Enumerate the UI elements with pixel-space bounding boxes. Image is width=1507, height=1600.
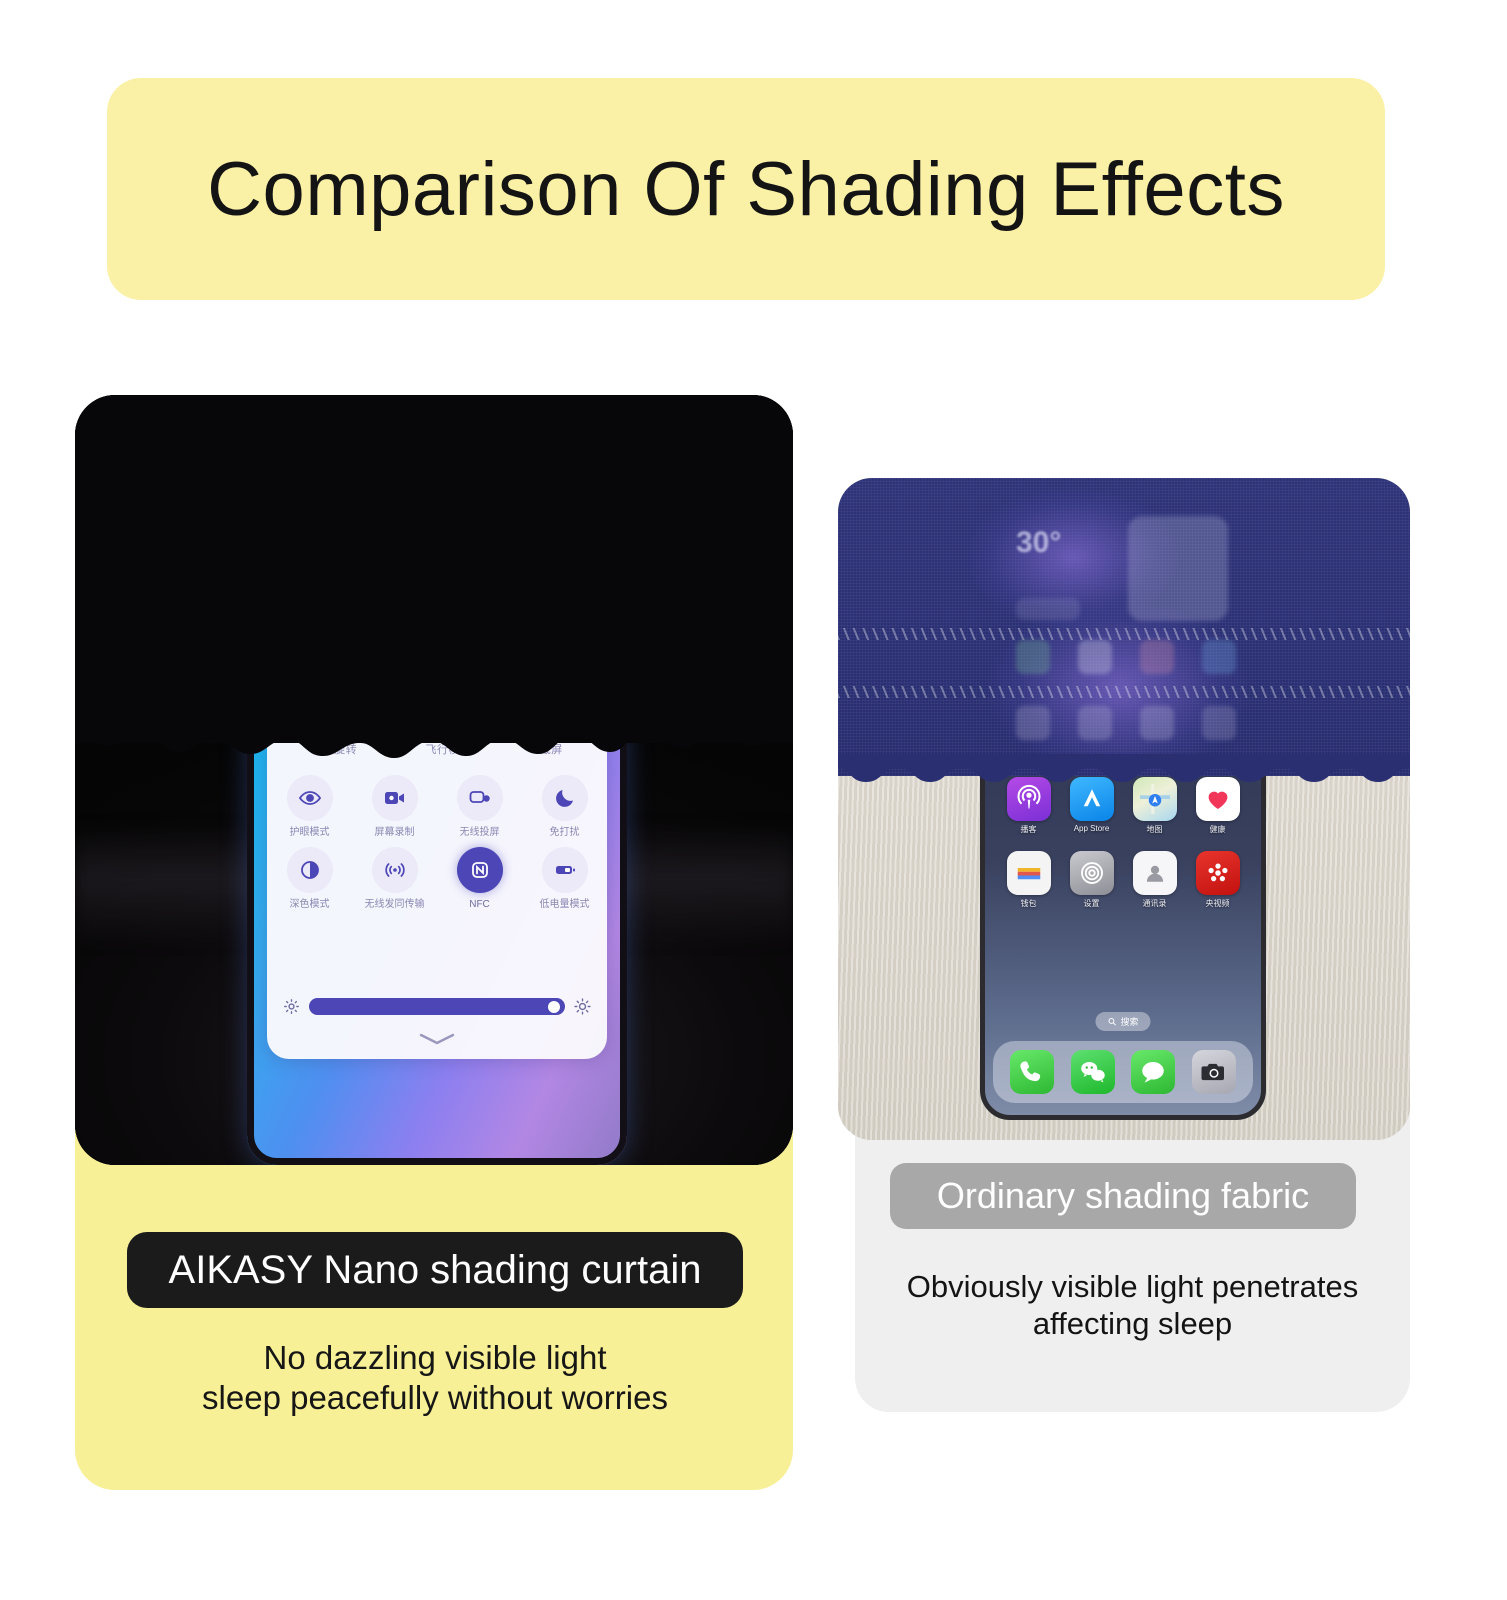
moon-icon bbox=[542, 775, 588, 821]
toggle-dark-mode[interactable]: 深色模式 bbox=[267, 847, 352, 911]
fabric-stitch-row-1 bbox=[838, 628, 1410, 640]
sun-large-icon bbox=[574, 998, 591, 1015]
bleed-app-1 bbox=[1016, 640, 1050, 674]
app-label: 通讯录 bbox=[1143, 898, 1167, 909]
app-label: App Store bbox=[1074, 824, 1110, 833]
bleed-calendar-widget bbox=[1128, 516, 1228, 621]
collapse-chevron-down-icon[interactable] bbox=[416, 1031, 458, 1047]
messages-icon[interactable] bbox=[1131, 1050, 1175, 1094]
left-badge-label: AIKASY Nano shading curtain bbox=[169, 1248, 702, 1293]
camera-icon[interactable] bbox=[1192, 1050, 1236, 1094]
contacts-icon bbox=[1133, 851, 1177, 895]
page-title: Comparison Of Shading Effects bbox=[207, 146, 1285, 233]
brightness-slider-track[interactable] bbox=[309, 998, 565, 1015]
control-center-toggle-grid: 护眼模式 屏幕录制 bbox=[267, 775, 607, 910]
wireless-waves-icon bbox=[372, 847, 418, 893]
toggle-nfc[interactable]: NFC bbox=[437, 847, 522, 911]
ios-search-label: 搜索 bbox=[1120, 1015, 1138, 1028]
toggle-screen-record[interactable]: 屏幕录制 bbox=[352, 775, 437, 839]
cast-screen-icon bbox=[457, 775, 503, 821]
bleed-app-4 bbox=[1202, 640, 1236, 674]
eye-icon bbox=[287, 775, 333, 821]
brightness-slider-knob[interactable] bbox=[548, 1001, 560, 1013]
title-banner: Comparison Of Shading Effects bbox=[107, 78, 1385, 300]
right-product-photo: 播客 App Store bbox=[838, 478, 1410, 1140]
app-settings[interactable]: 设置 bbox=[1064, 851, 1120, 909]
wechat-icon[interactable] bbox=[1071, 1050, 1115, 1094]
fabric-scalloped-edge bbox=[838, 754, 1410, 798]
bleed-app-2 bbox=[1078, 640, 1112, 674]
bleed-app-6 bbox=[1078, 706, 1112, 740]
contrast-circle-icon bbox=[287, 847, 333, 893]
search-icon bbox=[1107, 1017, 1116, 1026]
left-product-photo: 自动旋转 飞行模式 截屏 护眼模式 bbox=[75, 395, 793, 1165]
wallet-icon bbox=[1007, 851, 1051, 895]
toggle-wireless-sharing[interactable]: 无线发同传输 bbox=[352, 847, 437, 911]
brightness-slider[interactable] bbox=[283, 998, 591, 1015]
right-caption-line-2: affecting sleep bbox=[860, 1305, 1405, 1342]
app-label: 央视频 bbox=[1206, 898, 1230, 909]
toggle-eye-protection-mode[interactable]: 护眼模式 bbox=[267, 775, 352, 839]
red-app-icon bbox=[1196, 851, 1240, 895]
nfc-icon bbox=[457, 847, 503, 893]
app-label: 设置 bbox=[1084, 898, 1100, 909]
toggle-label: 屏幕录制 bbox=[375, 827, 415, 839]
sun-small-icon bbox=[283, 998, 300, 1015]
toggle-label: 无线投屏 bbox=[460, 827, 500, 839]
ios-dock bbox=[993, 1041, 1253, 1103]
app-label: 健康 bbox=[1210, 824, 1226, 835]
right-caption: Obviously visible light penetrates affec… bbox=[860, 1268, 1405, 1342]
ordinary-shading-fabric: 30° bbox=[838, 478, 1410, 776]
app-label: 钱包 bbox=[1021, 898, 1037, 909]
left-caption-line-2: sleep peacefully without worries bbox=[95, 1378, 775, 1418]
settings-gear-icon bbox=[1070, 851, 1114, 895]
right-caption-line-1: Obviously visible light penetrates bbox=[860, 1268, 1405, 1305]
bleed-weather-temp: 30° bbox=[1016, 526, 1061, 560]
toggle-label: 无线发同传输 bbox=[365, 899, 425, 911]
toggle-wireless-projection[interactable]: 无线投屏 bbox=[437, 775, 522, 839]
video-camera-icon bbox=[372, 775, 418, 821]
left-product-badge: AIKASY Nano shading curtain bbox=[127, 1232, 743, 1308]
toggle-label: 免打扰 bbox=[550, 827, 580, 839]
fabric-texture bbox=[838, 478, 1410, 776]
right-badge-label: Ordinary shading fabric bbox=[937, 1175, 1309, 1217]
bleed-app-8 bbox=[1202, 706, 1236, 740]
curtain-scalloped-edge bbox=[75, 713, 793, 773]
bleed-app-5 bbox=[1016, 706, 1050, 740]
bleed-app-7 bbox=[1140, 706, 1174, 740]
app-wallet[interactable]: 钱包 bbox=[1001, 851, 1057, 909]
ios-search-pill[interactable]: 搜索 bbox=[1095, 1012, 1150, 1031]
toggle-do-not-disturb[interactable]: 免打扰 bbox=[522, 775, 607, 839]
app-label: 播客 bbox=[1021, 824, 1037, 835]
app-contacts[interactable]: 通讯录 bbox=[1127, 851, 1183, 909]
toggle-label: 深色模式 bbox=[290, 899, 330, 911]
app-red-app[interactable]: 央视频 bbox=[1190, 851, 1246, 909]
right-product-badge: Ordinary shading fabric bbox=[890, 1163, 1356, 1229]
left-caption: No dazzling visible light sleep peaceful… bbox=[95, 1338, 775, 1419]
phone-icon[interactable] bbox=[1010, 1050, 1054, 1094]
bleed-weather-subtext bbox=[1016, 598, 1080, 620]
fabric-stitch-row-2 bbox=[838, 686, 1410, 698]
toggle-label: 低电量模式 bbox=[540, 899, 590, 911]
left-caption-line-1: No dazzling visible light bbox=[95, 1338, 775, 1378]
android-phone: 自动旋转 飞行模式 截屏 护眼模式 bbox=[247, 713, 627, 1165]
toggle-power-saving-mode[interactable]: 低电量模式 bbox=[522, 847, 607, 911]
toggle-label: NFC bbox=[469, 899, 490, 911]
battery-icon bbox=[542, 847, 588, 893]
bleed-app-3 bbox=[1140, 640, 1174, 674]
app-label: 地图 bbox=[1147, 824, 1163, 835]
toggle-label: 护眼模式 bbox=[290, 827, 330, 839]
nano-shading-curtain bbox=[75, 395, 793, 743]
